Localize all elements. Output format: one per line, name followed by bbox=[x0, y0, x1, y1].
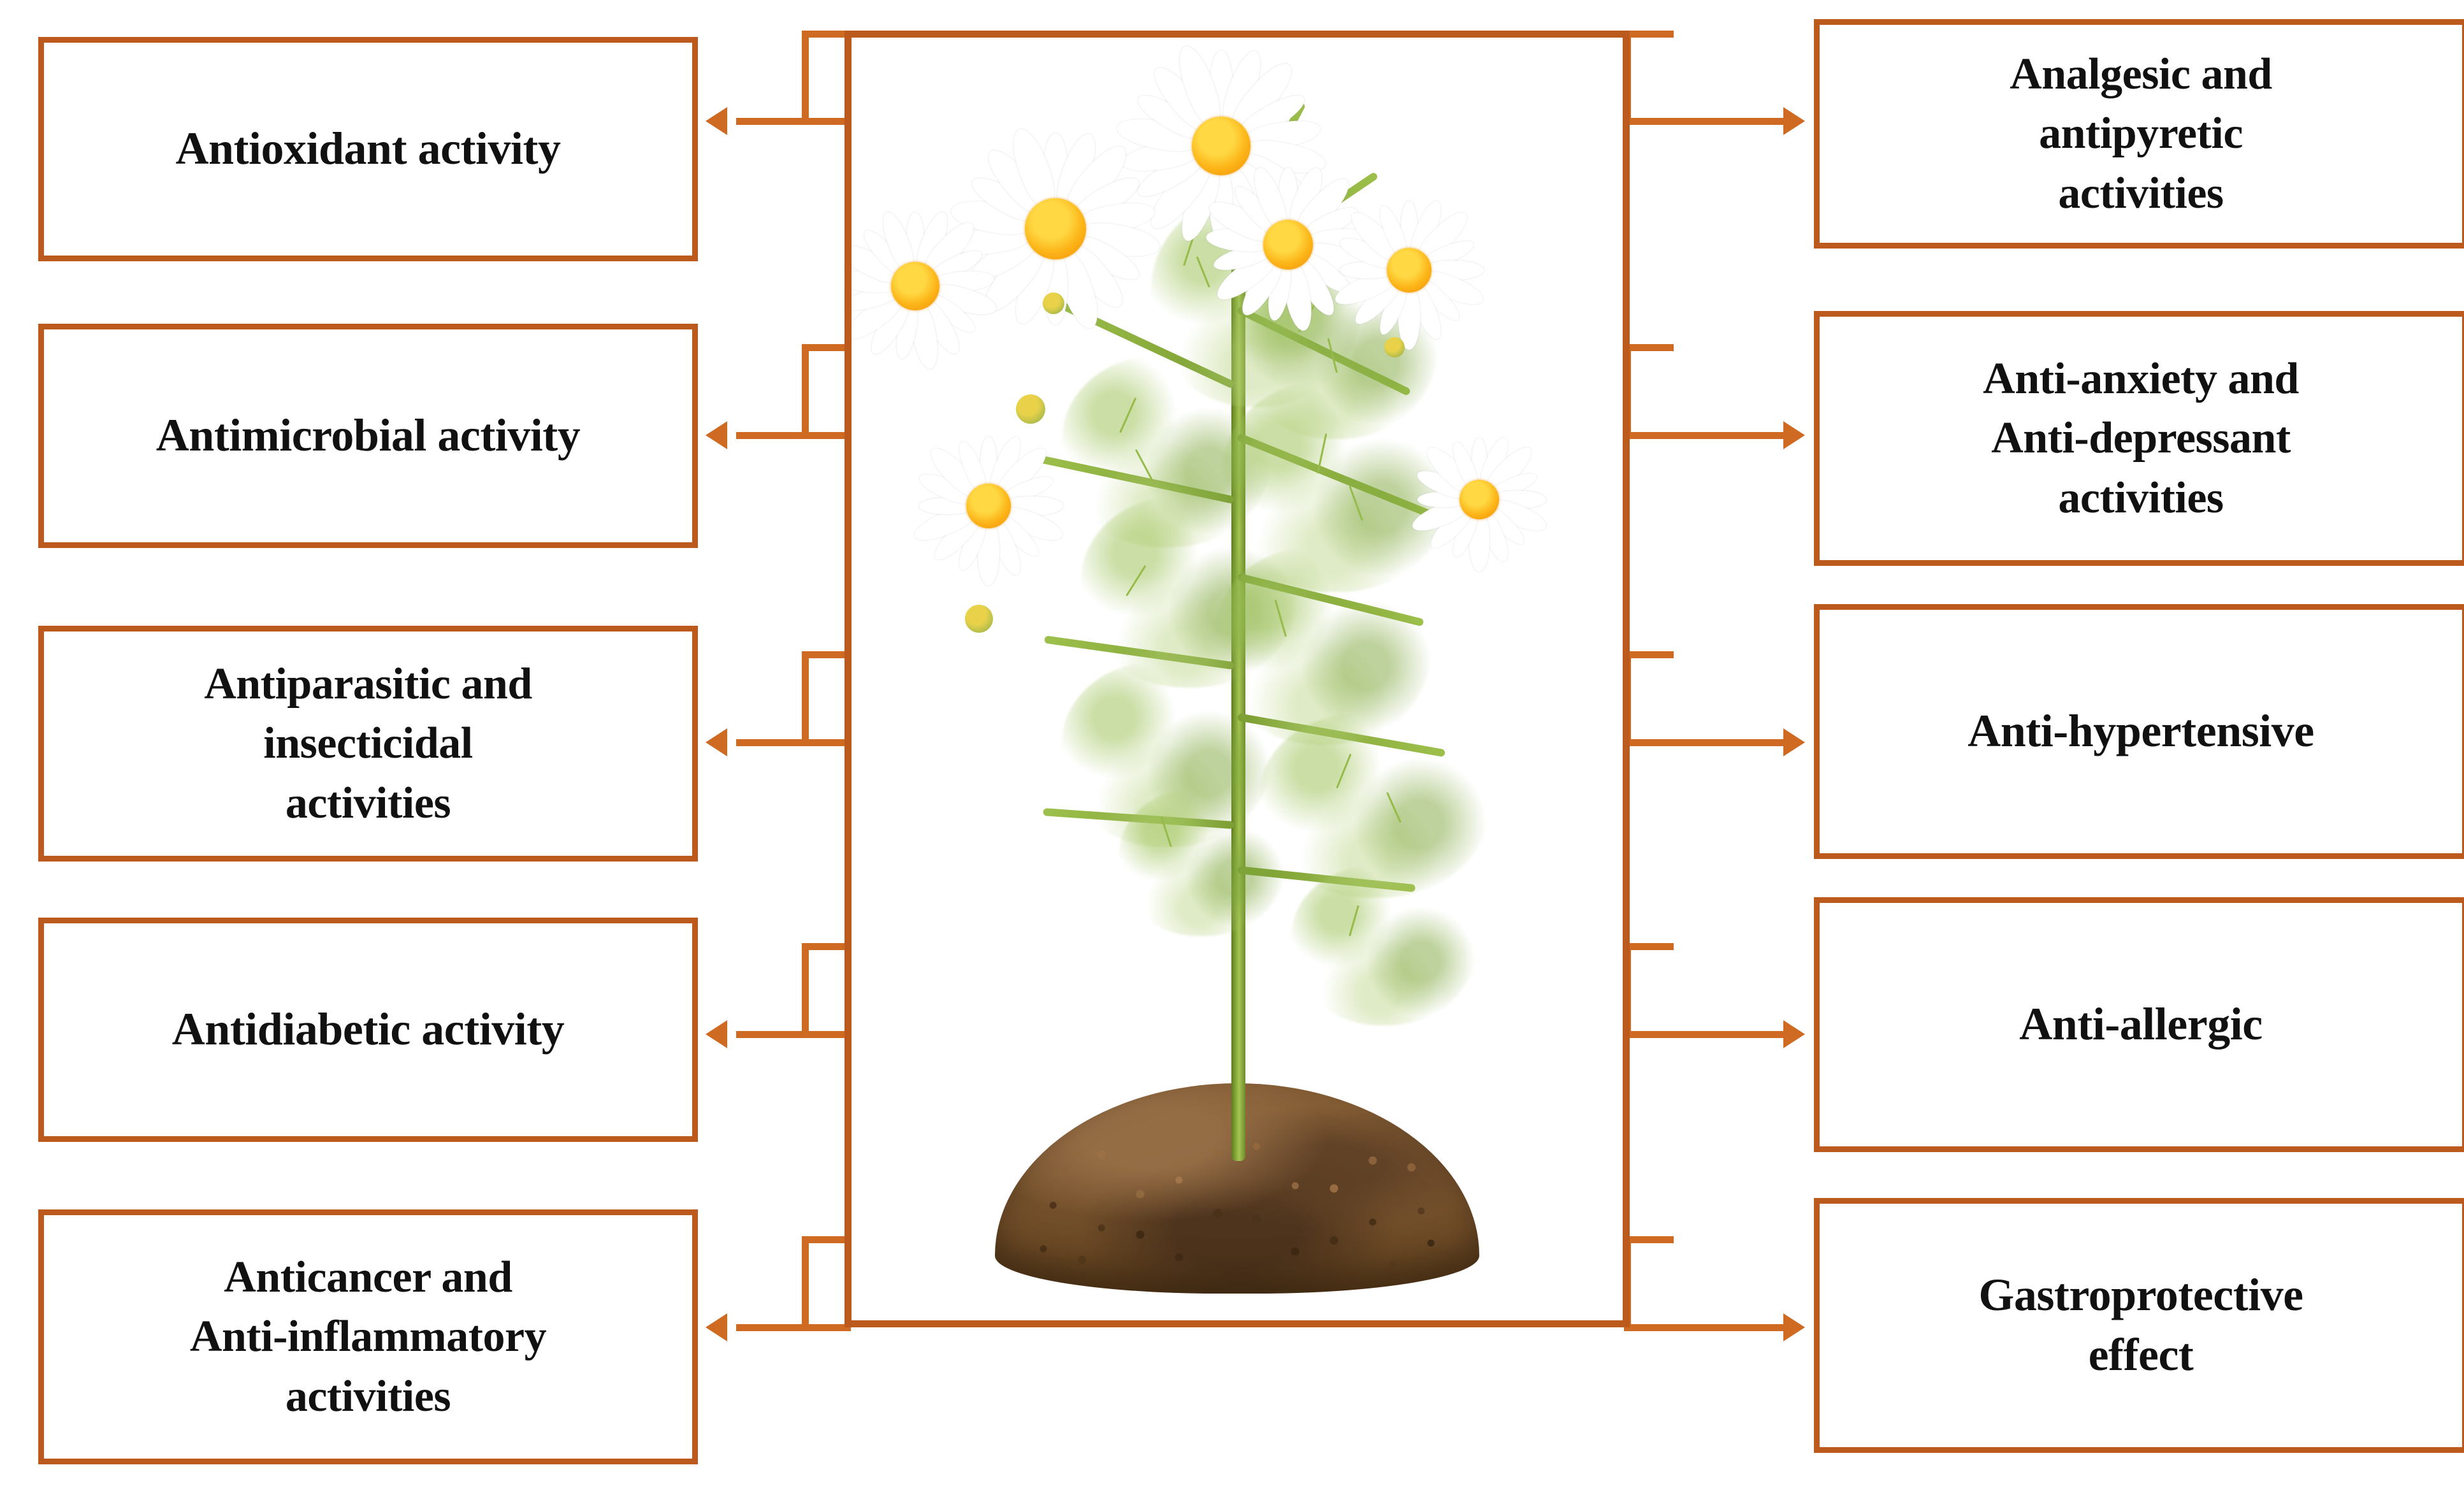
flower-disc bbox=[1025, 198, 1086, 259]
connector-right-4-arrowhead bbox=[1783, 1020, 1805, 1048]
connector-left-5-arrowhead bbox=[706, 1313, 727, 1341]
connector-right-2-arrowhead bbox=[1783, 421, 1805, 449]
activity-box-anticancer[interactable]: Anticancer and Anti-inflammatory activit… bbox=[38, 1209, 698, 1464]
flower-disc bbox=[1460, 480, 1499, 519]
activity-label: Antimicrobial activity bbox=[145, 406, 592, 466]
activity-box-antioxidant[interactable]: Antioxidant activity bbox=[38, 37, 698, 261]
flower-disc bbox=[891, 262, 939, 310]
connector-right-4-run bbox=[1624, 1031, 1785, 1038]
activity-label: Anti-hypertensive bbox=[1956, 702, 2325, 761]
connector-left-4-stub bbox=[802, 943, 809, 1037]
activity-box-antidiabetic[interactable]: Antidiabetic activity bbox=[38, 918, 698, 1142]
activity-label: Anti-anxiety and Anti-depressant activit… bbox=[1971, 349, 2310, 527]
connector-left-2-run bbox=[736, 432, 851, 439]
connector-right-2-run bbox=[1624, 432, 1785, 439]
chamomile-flower bbox=[915, 433, 1062, 579]
flower-bud bbox=[1016, 394, 1045, 424]
flower-disc bbox=[1263, 220, 1313, 270]
connector-left-1-run bbox=[736, 118, 851, 125]
flower-disc bbox=[966, 484, 1011, 528]
activity-box-gastroprotective[interactable]: Gastroprotective effect bbox=[1814, 1198, 2464, 1453]
connector-right-1-run bbox=[1624, 118, 1785, 125]
connector-right-3-step bbox=[1624, 651, 1674, 658]
activity-box-antiparasitic[interactable]: Antiparasitic and insecticidal activitie… bbox=[38, 626, 698, 862]
connector-left-5-stub bbox=[802, 1236, 809, 1331]
connector-left-3-arrowhead bbox=[706, 728, 727, 756]
activity-label: Antiparasitic and insecticidal activitie… bbox=[192, 654, 544, 832]
connector-right-5-step bbox=[1624, 1236, 1674, 1243]
activity-box-analgesic[interactable]: Analgesic and antipyretic activities bbox=[1814, 19, 2464, 249]
plant-foliage bbox=[1291, 866, 1476, 1025]
connector-right-4-step bbox=[1624, 943, 1674, 950]
connector-left-5-run bbox=[736, 1324, 851, 1331]
activity-label: Gastroprotective effect bbox=[1967, 1266, 2314, 1385]
connector-right-1-step bbox=[1624, 31, 1674, 38]
connector-right-5-arrowhead bbox=[1783, 1313, 1805, 1341]
activity-label: Anticancer and Anti-inflammatory activit… bbox=[178, 1248, 558, 1425]
connector-right-2-step bbox=[1624, 344, 1674, 351]
connector-left-2-arrowhead bbox=[706, 421, 727, 449]
connector-right-1-arrowhead bbox=[1783, 107, 1805, 135]
activity-label: Antidiabetic activity bbox=[161, 1000, 576, 1060]
activity-label: Anti-allergic bbox=[2008, 995, 2273, 1055]
connector-left-3-stub bbox=[802, 651, 809, 746]
plant-image-frame bbox=[844, 31, 1630, 1327]
connector-left-1-stub bbox=[802, 31, 809, 125]
chamomile-flower bbox=[844, 210, 992, 363]
activity-box-anti-allergic[interactable]: Anti-allergic bbox=[1814, 897, 2464, 1152]
plant-foliage bbox=[1119, 790, 1285, 936]
flower-disc bbox=[1387, 248, 1431, 292]
chamomile-flower bbox=[1412, 433, 1546, 566]
activity-box-anti-anxiety[interactable]: Anti-anxiety and Anti-depressant activit… bbox=[1814, 311, 2464, 566]
activity-box-antimicrobial[interactable]: Antimicrobial activity bbox=[38, 324, 698, 548]
flower-bud bbox=[1043, 292, 1064, 314]
activity-label: Antioxidant activity bbox=[164, 119, 572, 179]
connector-right-5-run bbox=[1624, 1324, 1785, 1331]
activity-box-anti-hypertensive[interactable]: Anti-hypertensive bbox=[1814, 604, 2464, 859]
activities-diagram: Antioxidant activity Antimicrobial activ… bbox=[0, 0, 2464, 1486]
connector-left-4-arrowhead bbox=[706, 1020, 727, 1048]
connector-left-3-run bbox=[736, 739, 851, 746]
chamomile-flower bbox=[1336, 197, 1482, 343]
connector-left-1-arrowhead bbox=[706, 107, 727, 135]
chamomile-plant-illustration bbox=[852, 38, 1623, 1320]
connector-right-3-run bbox=[1624, 739, 1785, 746]
connector-left-4-run bbox=[736, 1031, 851, 1038]
flower-bud bbox=[965, 605, 993, 633]
connector-right-3-arrowhead bbox=[1783, 728, 1805, 756]
activity-label: Analgesic and antipyretic activities bbox=[1998, 45, 2284, 222]
flower-bud bbox=[1384, 337, 1405, 357]
connector-left-2-stub bbox=[802, 344, 809, 438]
